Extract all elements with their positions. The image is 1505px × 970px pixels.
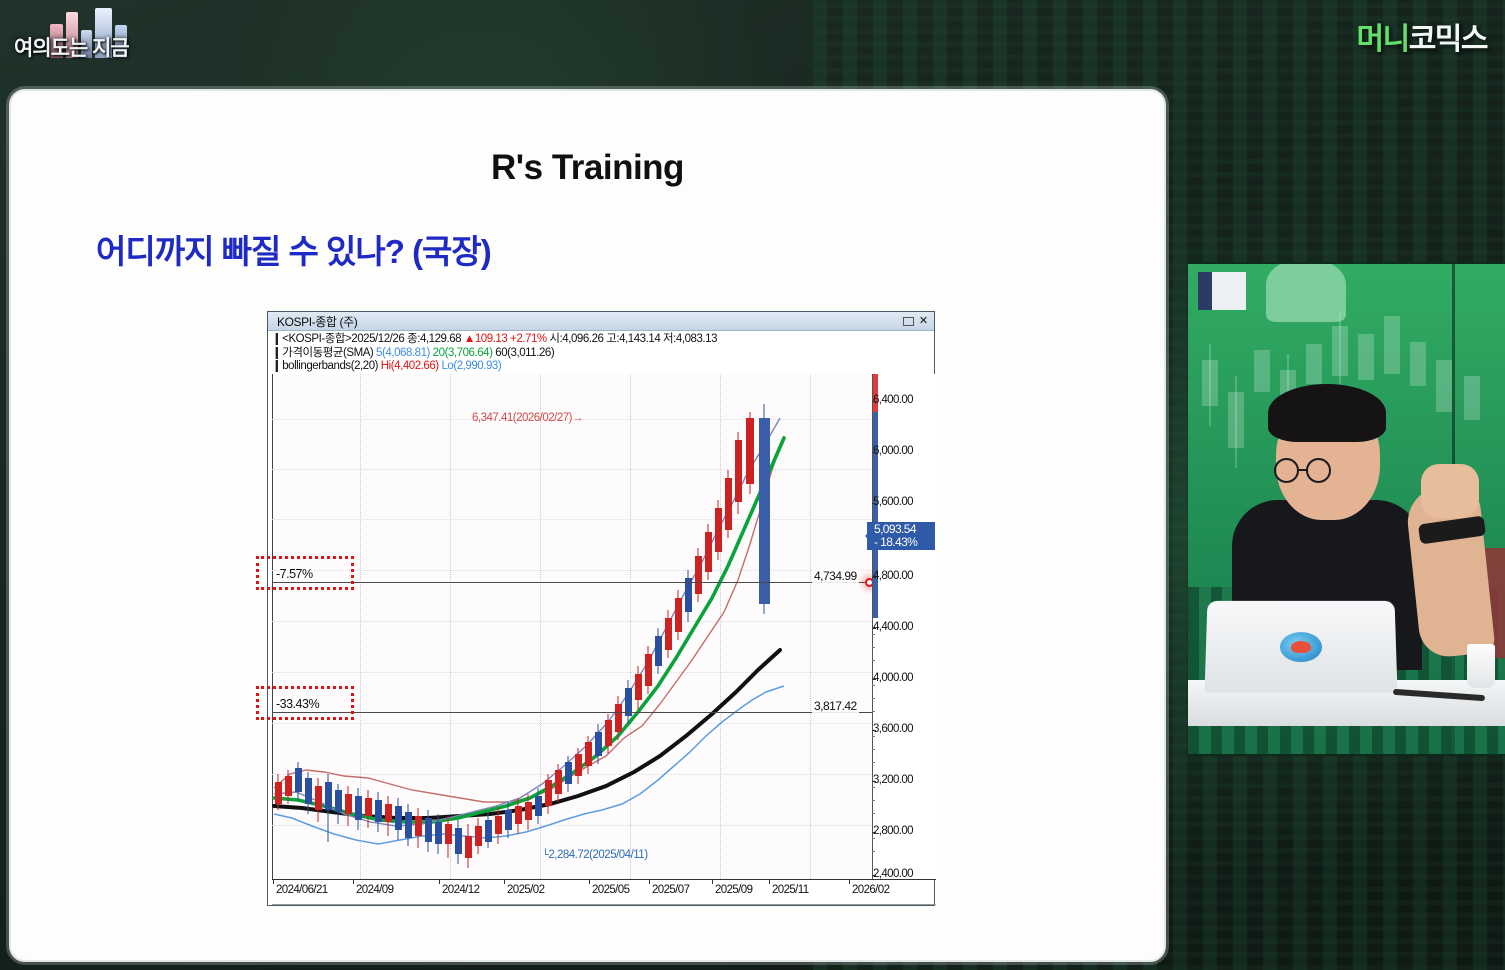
current-band-red: [873, 374, 878, 412]
hts-chart-window: KOSPI-종합 (주) ✕ ❙<KOSPI-종합>2025/12/26 종:4…: [267, 311, 935, 906]
presenter-hand: [1421, 464, 1479, 518]
current-price-pct: - 18.43%: [874, 536, 935, 549]
hts-low: 4,083.13: [676, 333, 717, 345]
hts-open-label: 시:: [549, 333, 562, 345]
statue-graphic: [1266, 262, 1346, 322]
date-axis: 2024/06/21 2024/09 2024/12 2025/02 2025/…: [272, 879, 936, 905]
bg-wick: [1209, 344, 1211, 426]
date-tick: 2025/05: [592, 884, 629, 896]
broadcaster-watermark: 머니코믹스: [1356, 14, 1487, 58]
hts-low-label: 저:: [663, 333, 676, 345]
hts-window-title: KOSPI-종합 (주): [271, 313, 901, 330]
hts-change-arrow: ▲: [464, 333, 475, 345]
date-tick: 2025/11: [772, 884, 809, 896]
wall-street-sign: [1198, 272, 1246, 310]
watermark-green-text: 머니: [1356, 23, 1408, 56]
price-tick: 5,600.00: [873, 496, 913, 508]
price-tick: 6,000.00: [873, 445, 913, 457]
close-icon[interactable]: ✕: [916, 315, 931, 328]
chart-plot-area[interactable]: 4,734.99 3,817.42 -7.57% -33.43% 6,347.4…: [272, 374, 872, 879]
maximize-icon[interactable]: [903, 317, 914, 326]
watermark-white-text: 코믹스: [1409, 23, 1487, 56]
hts-info-line-2: ❙가격이동평균(SMA) 5(4,068.81) 20(3,706.64) 60…: [272, 347, 934, 361]
low-annotation: └2,284.72(2025/04/11): [542, 849, 648, 862]
laptop-sticker: [1280, 632, 1322, 662]
paper-cup: [1467, 644, 1495, 688]
bullet-icon: ❙: [272, 360, 281, 372]
bg-candle: [1464, 376, 1480, 420]
hts-high-label: 고:: [606, 333, 619, 345]
date-tick: 2025/07: [652, 884, 689, 896]
slide-subtitle: 어디까지 빠질 수 있나? (국장): [96, 225, 491, 273]
presenter-webcam: [1188, 262, 1505, 756]
sma-label: 가격이동평균(SMA): [282, 347, 373, 359]
hts-open: 4,096.26: [562, 333, 603, 345]
candlesticks: [275, 404, 770, 868]
price-tick: 3,600.00: [873, 723, 913, 735]
bg-candle: [1384, 316, 1400, 374]
current-band-blue: [873, 412, 878, 618]
sma5-value: 5(4,068.81): [376, 347, 430, 359]
glasses-icon: [1274, 458, 1348, 484]
date-tick: 2025/02: [507, 884, 544, 896]
price-tick: 4,400.00: [873, 621, 913, 633]
date-tick: 2024/12: [442, 884, 479, 896]
price-tick: 6,400.00: [873, 394, 913, 406]
hts-info-line-3: ❙bollingerbands(2,20) Hi(4,402.66) Lo(2,…: [272, 360, 934, 374]
pct-label-1: -7.57%: [276, 567, 313, 581]
channel-logo-text: 여의도는 지금: [14, 32, 164, 62]
price-tick: 2,800.00: [873, 825, 913, 837]
presentation-slide: R's Training 어디까지 빠질 수 있나? (국장) KOSPI-종합…: [9, 89, 1166, 962]
date-tick: 2025/09: [715, 884, 752, 896]
bg-candle: [1436, 360, 1452, 412]
price-tick: 4,800.00: [873, 570, 913, 582]
date-tick: 2024/09: [356, 884, 393, 896]
channel-logo: 여의도는 지금: [14, 6, 164, 72]
high-annotation: 6,347.41(2026/02/27)→: [472, 412, 583, 424]
level-line-1: [272, 582, 872, 583]
slide-title: R's Training: [11, 148, 1164, 188]
bullet-icon: ❙: [272, 333, 281, 345]
current-price-tag: 5,093.54 - 18.43%: [867, 522, 935, 550]
bollinger-hi: Hi(4,402.66): [381, 360, 439, 372]
bollinger-lo: Lo(2,990.93): [441, 360, 501, 372]
hts-close-label: 종:: [407, 333, 420, 345]
bollinger-label: bollingerbands(2,20): [282, 360, 378, 372]
presenter-hair: [1268, 384, 1386, 442]
price-tick: 3,200.00: [873, 774, 913, 786]
hts-info-panel: ❙<KOSPI-종합>2025/12/26 종:4,129.68 ▲109.13…: [268, 331, 934, 374]
price-axis: 6,400.00 6,000.00 5,600.00 4,800.00 4,40…: [872, 374, 936, 879]
level-label-2: 3,817.42: [812, 699, 859, 713]
bullet-icon: ❙: [272, 347, 281, 359]
hts-symbol: <KOSPI-종합>: [282, 333, 351, 345]
price-chart-svg: [272, 374, 872, 879]
hts-titlebar: KOSPI-종합 (주) ✕: [268, 312, 934, 331]
date-tick: 2026/02: [852, 884, 889, 896]
hts-close: 4,129.68: [420, 333, 461, 345]
hts-info-line-1: ❙<KOSPI-종합>2025/12/26 종:4,129.68 ▲109.13…: [272, 333, 934, 347]
level-label-1: 4,734.99: [812, 569, 859, 583]
pct-label-2: -33.43%: [276, 697, 319, 711]
hts-change: 109.13: [475, 333, 507, 345]
level-line-2: [272, 712, 872, 713]
hts-change-pct: +2.71%: [510, 333, 547, 345]
laptop: [1205, 601, 1398, 693]
price-tick: 4,000.00: [873, 672, 913, 684]
sma20-value: 20(3,706.64): [433, 347, 493, 359]
sma60-value: 60(3,011.26): [495, 347, 554, 359]
hts-date: 2025/12/26: [351, 333, 404, 345]
date-tick: 2024/06/21: [276, 884, 328, 896]
hts-high: 4,143.14: [619, 333, 660, 345]
